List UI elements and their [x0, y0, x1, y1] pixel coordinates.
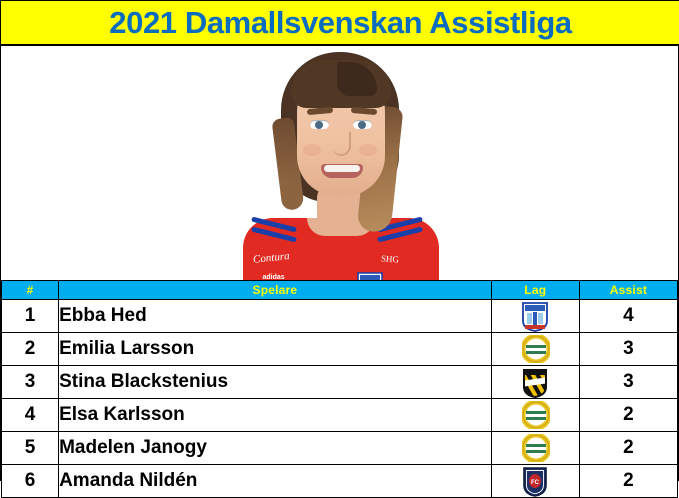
table-row: 6 Amanda Nildén FC 2: [2, 465, 678, 498]
team-badge-cell: FC: [491, 465, 579, 498]
assists-value: 3: [579, 333, 677, 366]
assists-value: 3: [579, 366, 677, 399]
table-header-row: # Spelare Lag Assist: [2, 281, 678, 300]
hammarby-badge-icon: [522, 401, 548, 429]
kif-orebro-badge-icon: [522, 302, 548, 330]
cheek-right: [359, 144, 377, 156]
team-badge-cell: [491, 432, 579, 465]
player-name: Emilia Larsson: [59, 333, 492, 366]
assists-value: 4: [579, 300, 677, 333]
table-row: 2 Emilia Larsson 3: [2, 333, 678, 366]
team-badge-cell: [491, 333, 579, 366]
rank-value: 3: [2, 366, 59, 399]
player-name: Amanda Nildén: [59, 465, 492, 498]
column-header-team: Lag: [491, 281, 579, 300]
team-badge-cell: [491, 399, 579, 432]
assists-value: 2: [579, 432, 677, 465]
rank-value: 6: [2, 465, 59, 498]
table-row: 1 Ebba Hed 4: [2, 300, 678, 333]
player-name: Ebba Hed: [59, 300, 492, 333]
player-name: Elsa Karlsson: [59, 399, 492, 432]
player-name: Madelen Janogy: [59, 432, 492, 465]
assists-value: 2: [579, 399, 677, 432]
assists-table: # Spelare Lag Assist 1 Ebba Hed: [1, 280, 678, 498]
assists-value: 2: [579, 465, 677, 498]
player-photo: Contura SHG adidas INTERSPORT: [1, 46, 678, 280]
iris-left: [315, 121, 323, 129]
portrait-illustration: Contura SHG adidas INTERSPORT: [225, 46, 455, 280]
table-row: 3 Stina Blackstenius: [2, 366, 678, 399]
hammarby-badge-icon: [522, 434, 548, 462]
rank-value: 2: [2, 333, 59, 366]
rosengard-badge-icon: FC: [522, 467, 548, 495]
mouth: [321, 164, 363, 178]
iris-right: [358, 121, 366, 129]
infographic-page: 2021 Damallsvenskan Assistliga Contura S…: [0, 0, 679, 481]
table-row: 5 Madelen Janogy 2: [2, 432, 678, 465]
sponsor-shg-text: SHG: [380, 253, 399, 264]
jersey-crest-icon: [357, 272, 383, 280]
team-badge-cell: [491, 300, 579, 333]
cheek-left: [303, 144, 321, 156]
rank-value: 4: [2, 399, 59, 432]
column-header-player: Spelare: [59, 281, 492, 300]
hammarby-badge-icon: [522, 335, 548, 363]
page-title: 2021 Damallsvenskan Assistliga: [109, 7, 571, 38]
nose: [333, 132, 351, 156]
column-header-assists: Assist: [579, 281, 677, 300]
title-banner: 2021 Damallsvenskan Assistliga: [1, 1, 679, 46]
rank-value: 1: [2, 300, 59, 333]
table-row: 4 Elsa Karlsson 2: [2, 399, 678, 432]
player-name: Stina Blackstenius: [59, 366, 492, 399]
team-badge-cell: [491, 366, 579, 399]
hacken-badge-icon: [522, 368, 548, 396]
rank-value: 5: [2, 432, 59, 465]
column-header-rank: #: [2, 281, 59, 300]
teeth: [324, 165, 360, 172]
